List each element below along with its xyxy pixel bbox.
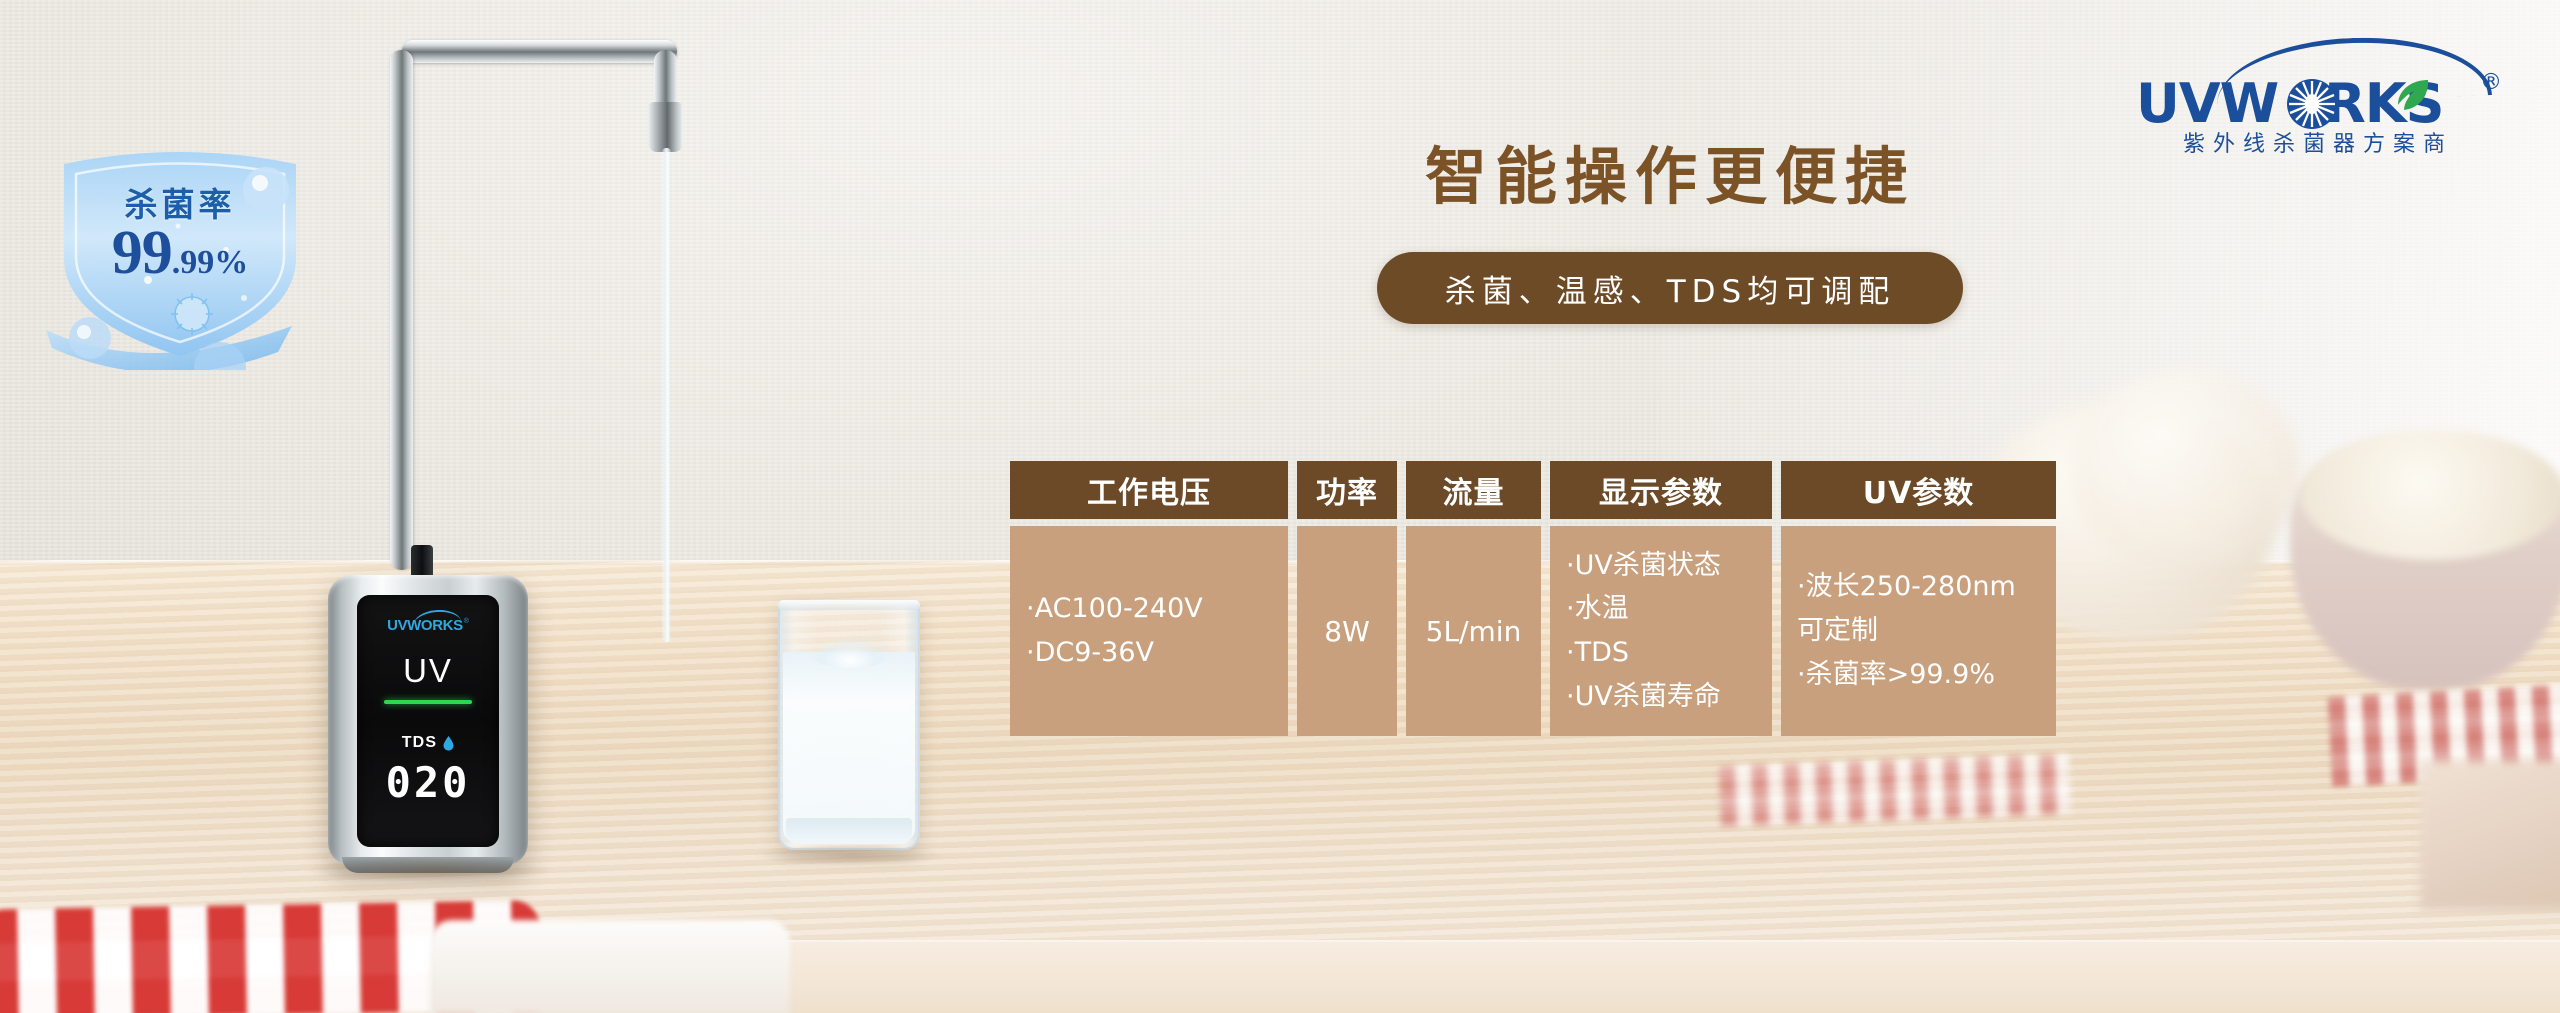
faucet: [390, 40, 690, 600]
faucet-left-riser: [390, 50, 413, 570]
spec-header-flow: 流量: [1406, 461, 1541, 519]
water-droplet-icon: [443, 736, 454, 751]
green-leaf-icon: [2396, 78, 2430, 112]
spec-header-label: 显示参数: [1599, 468, 1723, 512]
glass-water-fill: [783, 652, 915, 842]
badge-percentage: 99.99%: [30, 218, 330, 289]
device-tds-row: TDS: [402, 734, 455, 752]
brand-logo-subtitle: 紫外线杀菌器方案商: [2140, 126, 2496, 158]
spec-header-label: 工作电压: [1087, 468, 1211, 512]
spec-list-item: ·杀菌率>99.9%: [1797, 653, 2040, 697]
device-shadow: [310, 857, 550, 883]
yarn-ball-prop: [2070, 370, 2300, 570]
device-tds-value: 020: [386, 758, 471, 807]
sterilization-rate-badge: 杀菌率 99.99%: [30, 130, 330, 370]
spec-value: 5L/min: [1426, 615, 1522, 648]
spec-list-item: ·UV杀菌状态: [1566, 544, 1756, 588]
device-brand-logo: UVWORKS ®: [387, 617, 469, 634]
glass-rim: [778, 600, 920, 610]
gingham-cloth-prop: [1719, 754, 2071, 826]
spec-header-label: UV参数: [1863, 468, 1975, 512]
spec-list-item: ·AC100-240V: [1026, 587, 1272, 631]
spec-list-item: 可定制: [1797, 609, 2040, 653]
spec-body-flow: 5L/min: [1406, 526, 1541, 736]
plate-prop: [430, 920, 790, 1013]
spec-header-power: 功率: [1297, 461, 1397, 519]
glass-base: [786, 818, 912, 844]
spec-column-uv: UV参数 ·波长250-280nm 可定制 ·杀菌率>99.9%: [1781, 461, 2056, 736]
feature-pill-label: 杀菌、温感、TDS均可调配: [1445, 266, 1895, 311]
spec-body-display: ·UV杀菌状态 ·水温 ·TDS ·UV杀菌寿命: [1550, 526, 1772, 736]
device-mode-label: UV: [403, 652, 453, 690]
water-splash: [808, 638, 892, 668]
specification-table: 工作电压 ·AC100-240V ·DC9-36V 功率 8W 流量 5L/mi…: [1010, 461, 2056, 736]
water-stream: [662, 148, 671, 642]
spec-list-item: ·TDS: [1566, 631, 1756, 675]
box-prop: [2420, 760, 2560, 910]
spec-list-item: ·UV杀菌寿命: [1566, 675, 1756, 719]
spec-body-power: 8W: [1297, 526, 1397, 736]
spec-column-flow: 流量 5L/min: [1406, 461, 1541, 736]
spec-body-voltage: ·AC100-240V ·DC9-36V: [1010, 526, 1288, 736]
spec-header-display: 显示参数: [1550, 461, 1772, 519]
spec-header-label: 功率: [1316, 468, 1378, 512]
spec-header-voltage: 工作电压: [1010, 461, 1288, 519]
spec-column-display: 显示参数 ·UV杀菌状态 ·水温 ·TDS ·UV杀菌寿命: [1550, 461, 1772, 736]
brand-logo: UVW RKS ® 紫外线杀菌器方案商: [2128, 34, 2508, 156]
spec-list-item: ·DC9-36V: [1026, 631, 1272, 675]
device-display-screen: UVWORKS ® UV TDS 020: [357, 595, 499, 847]
spec-column-power: 功率 8W: [1297, 461, 1397, 736]
glass-shadow: [754, 844, 946, 866]
spec-value: 8W: [1324, 615, 1370, 648]
page-title: 智能操作更便捷: [1370, 126, 1970, 216]
spec-header-uv: UV参数: [1781, 461, 2056, 519]
faucet-right-drop: [654, 50, 677, 110]
spec-header-label: 流量: [1443, 468, 1505, 512]
spec-body-uv: ·波长250-280nm 可定制 ·杀菌率>99.9%: [1781, 526, 2056, 736]
badge-value-minor: .99%: [172, 244, 249, 281]
faucet-top-arm: [402, 40, 677, 63]
uv-sunburst-icon: [2286, 78, 2338, 130]
spec-list-item: ·波长250-280nm: [1797, 565, 2040, 609]
spec-list-item: ·水温: [1566, 587, 1756, 631]
water-glass: [778, 600, 920, 850]
basket-lid-prop: [2300, 430, 2560, 560]
feature-pill-badge: 杀菌、温感、TDS均可调配: [1377, 252, 1963, 324]
uv-sterilizer-device: UVWORKS ® UV TDS 020: [328, 575, 528, 865]
badge-value-major: 99: [112, 219, 172, 287]
registered-trademark-icon: ®: [2480, 70, 2502, 95]
device-status-indicator-bar: [384, 700, 472, 704]
device-tds-label: TDS: [402, 734, 438, 752]
spec-column-voltage: 工作电压 ·AC100-240V ·DC9-36V: [1010, 461, 1288, 736]
faucet-spout: [648, 102, 683, 152]
device-logo-registered-icon: ®: [464, 618, 469, 625]
